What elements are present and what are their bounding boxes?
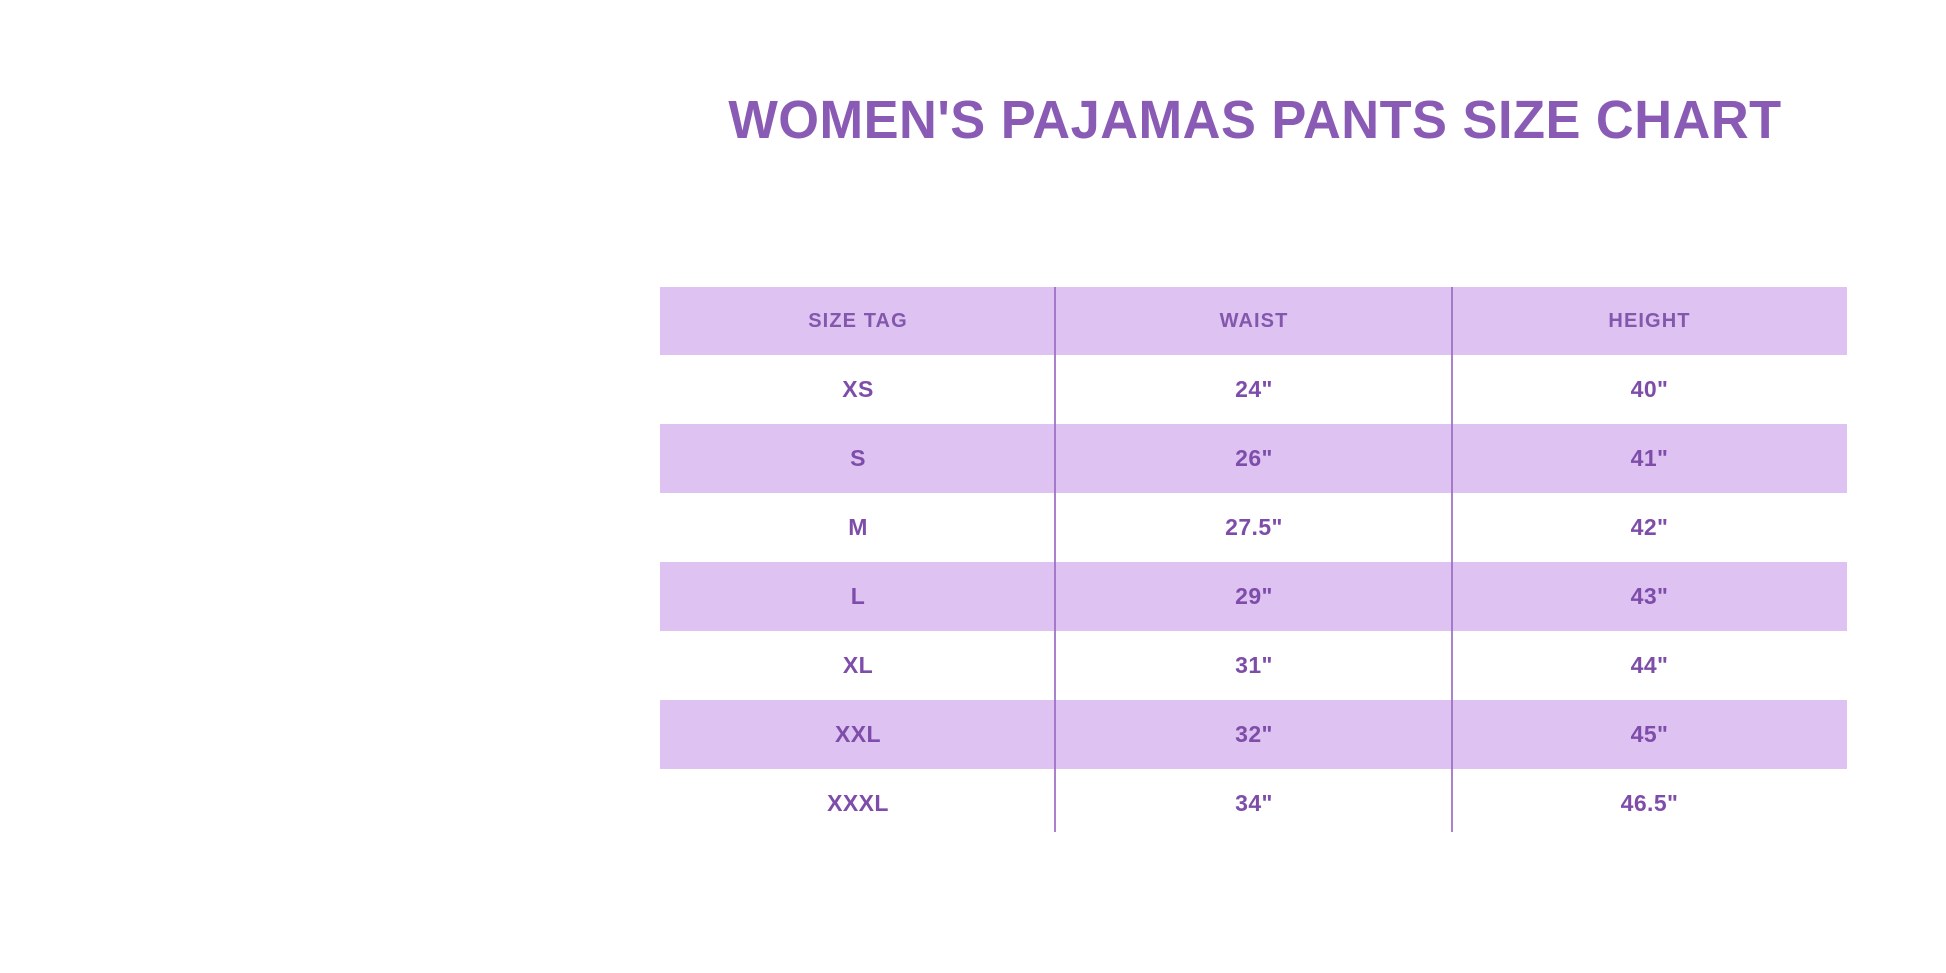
- table-row: XXL 32" 45": [660, 700, 1847, 769]
- table-row: XXXL 34" 46.5": [660, 769, 1847, 838]
- cell-height: 40": [1452, 355, 1847, 424]
- column-header-size-tag: SIZE TAG: [660, 287, 1056, 355]
- cell-size-tag: XXL: [660, 700, 1056, 769]
- cell-waist: 29": [1056, 562, 1452, 631]
- page-title: WOMEN'S PAJAMAS PANTS SIZE CHART: [678, 92, 1832, 149]
- table-body: XS 24" 40" S 26" 41" M 27.5" 42" L 29": [660, 355, 1847, 838]
- cell-height: 44": [1452, 631, 1847, 700]
- table-row: S 26" 41": [660, 424, 1847, 493]
- cell-size-tag: S: [660, 424, 1056, 493]
- size-chart-table: SIZE TAG WAIST HEIGHT XS 24" 40" S 26" 4…: [660, 287, 1847, 838]
- cell-waist: 27.5": [1056, 493, 1452, 562]
- cell-waist: 24": [1056, 355, 1452, 424]
- cell-size-tag: L: [660, 562, 1056, 631]
- cell-height: 41": [1452, 424, 1847, 493]
- size-chart-table-wrapper: SIZE TAG WAIST HEIGHT XS 24" 40" S 26" 4…: [660, 287, 1847, 838]
- cell-waist: 26": [1056, 424, 1452, 493]
- cell-height: 43": [1452, 562, 1847, 631]
- cell-size-tag: M: [660, 493, 1056, 562]
- table-row: XS 24" 40": [660, 355, 1847, 424]
- cell-waist: 34": [1056, 769, 1452, 838]
- cell-height: 45": [1452, 700, 1847, 769]
- size-chart-page: WOMEN'S PAJAMAS PANTS SIZE CHART SIZE TA…: [0, 0, 1946, 973]
- cell-height: 42": [1452, 493, 1847, 562]
- cell-height: 46.5": [1452, 769, 1847, 838]
- cell-size-tag: XXXL: [660, 769, 1056, 838]
- cell-waist: 32": [1056, 700, 1452, 769]
- cell-size-tag: XS: [660, 355, 1056, 424]
- table-row: XL 31" 44": [660, 631, 1847, 700]
- cell-size-tag: XL: [660, 631, 1056, 700]
- table-header: SIZE TAG WAIST HEIGHT: [660, 287, 1847, 355]
- column-header-height: HEIGHT: [1452, 287, 1847, 355]
- table-row: M 27.5" 42": [660, 493, 1847, 562]
- cell-waist: 31": [1056, 631, 1452, 700]
- table-header-row: SIZE TAG WAIST HEIGHT: [660, 287, 1847, 355]
- table-row: L 29" 43": [660, 562, 1847, 631]
- column-header-waist: WAIST: [1056, 287, 1452, 355]
